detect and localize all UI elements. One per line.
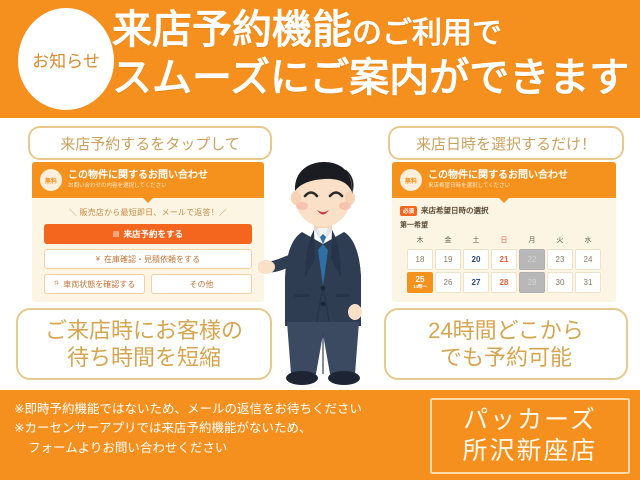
calendar-day-31[interactable]: 31	[575, 272, 601, 293]
vehicle-condition-button[interactable]: ⛗ 車両状態を確認する	[44, 274, 145, 294]
benefit-right-line-1: 24時間どこから	[428, 317, 584, 345]
calendar-day-number: 21	[500, 255, 509, 264]
headline-line-1-main: 来店予約機能	[112, 8, 352, 52]
shop-name-line-1: パッカーズ	[463, 405, 597, 436]
calendar-day-number: 30	[556, 278, 565, 287]
header-notch-icon	[499, 198, 509, 203]
reserve-visit-label: 来店予約をする	[124, 228, 184, 240]
headline-line-1: 来店予約機能のご利用で	[112, 10, 632, 50]
calendar-icon: ▤	[113, 230, 120, 238]
required-tag: 必須	[400, 206, 417, 216]
banner-header: お知らせ 来店予約機能のご利用で スムーズにご案内ができます	[0, 0, 640, 118]
disclaimer-line-3: フォームよりお問い合わせください	[14, 439, 414, 458]
calendar-weekday-火: 火	[547, 233, 573, 247]
headline-line-2: スムーズにご案内ができます	[112, 58, 632, 98]
disclaimer-line-1: ※即時予約機能ではないため、メールの返信をお待ちください	[14, 400, 414, 419]
banner-footer: ※即時予約機能ではないため、メールの返信をお待ちください ※カーセンサーアプリで…	[0, 390, 640, 480]
notice-badge: お知らせ	[18, 8, 114, 110]
required-field-row: 必須 来店希望日時の選択	[400, 205, 616, 216]
calendar-day-number: 25	[416, 275, 425, 284]
mock-right-header: 無料 この物件に関するお問い合わせ 来店希望日時を選択してください	[392, 162, 616, 198]
calendar-week-row-1[interactable]: 18192021222324	[398, 249, 610, 270]
reserve-visit-button[interactable]: ▤ 来店予約をする	[44, 224, 252, 244]
other-label: その他	[190, 279, 214, 290]
calendar-day-23[interactable]: 23	[547, 249, 573, 270]
calendar-day-number: 23	[556, 255, 565, 264]
stock-estimate-button[interactable]: ¥ 在庫確認・見積依頼をする	[44, 249, 252, 269]
free-badge-right: 無料	[400, 169, 422, 191]
calendar-day-number: 19	[444, 255, 453, 264]
other-button[interactable]: その他	[151, 274, 252, 294]
disclaimer-text: ※即時予約機能ではないため、メールの返信をお待ちください ※カーセンサーアプリで…	[14, 400, 414, 458]
calendar[interactable]: 木金土日月火水 18192021222324 2514時〜26272829303…	[398, 233, 610, 293]
calendar-day-18[interactable]: 18	[407, 249, 433, 270]
calendar-weekday-金: 金	[435, 233, 461, 247]
calendar-day-28[interactable]: 28	[491, 272, 517, 293]
mock-right-subtitle: 来店希望日時を選択してください	[428, 183, 568, 190]
required-field-label: 来店希望日時の選択	[421, 205, 489, 216]
mock-left-note: ＼ 販売店から最短即日、メールで返答！／	[32, 207, 264, 218]
calendar-week-row-2[interactable]: 2514時〜262728293031	[398, 272, 610, 293]
headline-group: 来店予約機能のご利用で スムーズにご案内ができます	[112, 6, 632, 98]
calendar-day-22: 22	[519, 249, 545, 270]
stock-estimate-label: 在庫確認・見積依頼をする	[104, 254, 200, 265]
calendar-day-25[interactable]: 2514時〜	[407, 272, 433, 293]
calendar-day-time: 14時〜	[413, 285, 427, 290]
mock-inquiry-form: 無料 この物件に関するお問い合わせ お問い合わせの内容を選択してください ＼ 販…	[32, 162, 264, 302]
mock-left-header: 無料 この物件に関するお問い合わせ お問い合わせの内容を選択してください	[32, 162, 264, 198]
calendar-weekday-水: 水	[575, 233, 601, 247]
mock-calendar-form: 無料 この物件に関するお問い合わせ 来店希望日時を選択してください 必須 来店希…	[392, 162, 616, 302]
preference-label: 第一希望	[400, 220, 616, 230]
caption-left: 来店予約するをタップして	[28, 126, 272, 160]
yen-icon: ¥	[96, 256, 100, 263]
calendar-day-21[interactable]: 21	[491, 249, 517, 270]
calendar-weekday-月: 月	[519, 233, 545, 247]
calendar-weekday-row: 木金土日月火水	[398, 233, 610, 247]
advertisement-banner: お知らせ 来店予約機能のご利用で スムーズにご案内ができます 来店予約するをタッ…	[0, 0, 640, 480]
mock-left-subtitle: お問い合わせの内容を選択してください	[68, 183, 208, 190]
vehicle-condition-label: 車両状態を確認する	[63, 279, 135, 290]
calendar-day-24[interactable]: 24	[575, 249, 601, 270]
calendar-day-number: 28	[500, 278, 509, 287]
header-notch-icon	[143, 198, 153, 203]
benefit-left-line-2: 待ち時間を短縮	[67, 344, 221, 372]
calendar-day-number: 20	[472, 255, 481, 264]
shop-name-line-2: 所沢新座店	[462, 436, 597, 467]
calendar-day-number: 18	[416, 255, 425, 264]
mock-left-title: この物件に関するお問い合わせ	[68, 170, 208, 182]
free-badge-right-label: 無料	[405, 176, 417, 185]
calendar-day-29: 29	[519, 272, 545, 293]
secondary-button-row: ⛗ 車両状態を確認する その他	[44, 274, 252, 294]
businessman-illustration	[258, 158, 388, 390]
calendar-day-number: 27	[472, 278, 481, 287]
calendar-day-number: 26	[444, 278, 453, 287]
content-panel: 来店予約するをタップして 来店日時を選択するだけ！ 無料 この物件に関するお問い…	[0, 118, 640, 390]
mock-right-title: この物件に関するお問い合わせ	[428, 170, 568, 182]
benefit-box-wait-time: ご来店時にお客様の 待ち時間を短縮	[16, 308, 272, 380]
calendar-weekday-日: 日	[491, 233, 517, 247]
calendar-day-20[interactable]: 20	[463, 249, 489, 270]
calendar-day-27[interactable]: 27	[463, 272, 489, 293]
benefit-left-line-1: ご来店時にお客様の	[45, 317, 243, 345]
car-icon: ⛗	[54, 280, 60, 288]
notice-badge-label: お知らせ	[32, 47, 100, 72]
calendar-day-19[interactable]: 19	[435, 249, 461, 270]
calendar-day-number: 31	[584, 278, 593, 287]
disclaimer-line-2: ※カーセンサーアプリでは来店予約機能がないため、	[14, 419, 414, 438]
free-badge-left: 無料	[40, 169, 62, 191]
calendar-day-number: 29	[528, 278, 537, 287]
benefit-box-24h: 24時間どこから でも予約可能	[384, 308, 628, 380]
benefit-right-line-2: でも予約可能	[440, 344, 572, 372]
calendar-weekday-木: 木	[407, 233, 433, 247]
shop-name-box: パッカーズ 所沢新座店	[430, 398, 630, 474]
calendar-day-26[interactable]: 26	[435, 272, 461, 293]
calendar-day-30[interactable]: 30	[547, 272, 573, 293]
caption-right: 来店日時を選択するだけ！	[388, 126, 624, 160]
calendar-day-number: 24	[584, 255, 593, 264]
headline-line-1-tail: のご利用で	[352, 17, 502, 50]
free-badge-left-label: 無料	[45, 176, 57, 185]
calendar-weekday-土: 土	[463, 233, 489, 247]
calendar-day-number: 22	[528, 255, 537, 264]
